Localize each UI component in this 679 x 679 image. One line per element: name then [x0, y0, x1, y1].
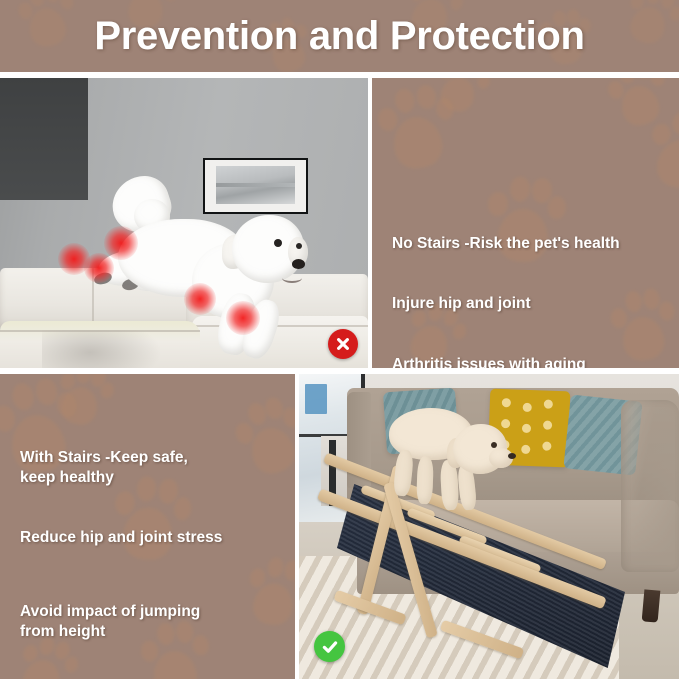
benefit-text-line-3: Avoid impact of jumping from height [20, 602, 278, 642]
photo-dog-jumping-off-sofa [0, 78, 368, 368]
ramp-foot-bar [440, 620, 525, 660]
dog-nose [508, 453, 516, 459]
header-banner: Prevention and Protection [0, 0, 679, 72]
cream-poodle-dog-on-ramp [385, 398, 517, 526]
panel-benefits-with-stairs: With Stairs -Keep safe, keep healthy Red… [0, 374, 295, 679]
check-badge-icon [314, 631, 345, 662]
dog-leg-hind-left [393, 449, 415, 497]
risk-text-line-1: No Stairs -Risk the pet's health [392, 234, 620, 254]
dog-eye [491, 442, 497, 448]
benefit-text-list: With Stairs -Keep safe, keep healthy Red… [0, 374, 295, 679]
benefit-text-line-1: With Stairs -Keep safe, keep healthy [20, 448, 278, 488]
risk-text-line-3: Arthritis issues with aging [392, 355, 586, 368]
benefit-text-line-2: Reduce hip and joint stress [20, 528, 278, 548]
dog-leg-hind-right [416, 456, 434, 505]
dog-eye-left [274, 239, 282, 247]
dog-nose [292, 259, 305, 269]
photo-dog-on-pet-ramp [299, 374, 679, 679]
pain-point-marker-hip [104, 226, 138, 260]
dog-mouth [282, 273, 302, 283]
infographic-root: Prevention and Protection [0, 0, 679, 679]
risk-text-list: No Stairs -Risk the pet's health Injure … [372, 78, 679, 368]
page-title: Prevention and Protection [0, 0, 679, 72]
pain-point-marker-shoulder [184, 283, 216, 315]
white-bichon-dog-jumping [60, 173, 300, 363]
cross-badge-icon [328, 329, 358, 359]
pain-point-marker-hind-knee-right [84, 253, 114, 283]
panel-risks-without-stairs: No Stairs -Risk the pet's health Injure … [372, 78, 679, 368]
dog-eye-right [296, 243, 302, 249]
risk-text-line-2: Injure hip and joint [392, 294, 531, 314]
pain-point-marker-front-paw [226, 301, 260, 335]
